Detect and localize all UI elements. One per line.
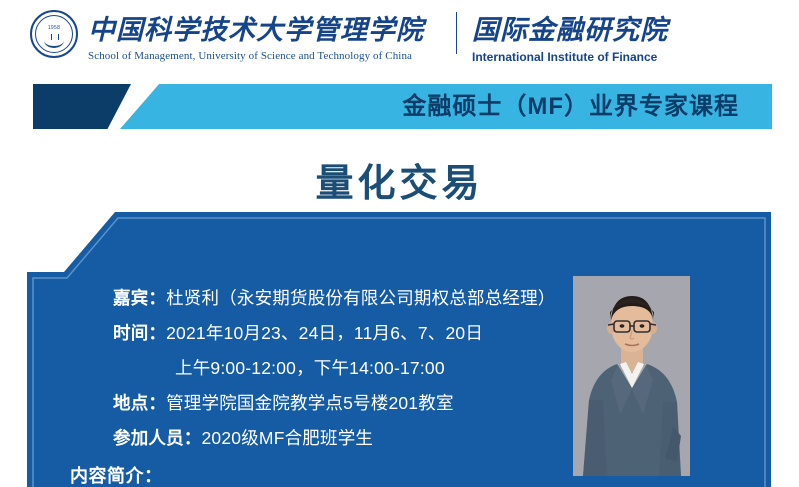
ustc-seal-logo-icon: 1958: [30, 10, 82, 62]
page-title: 量化交易: [0, 152, 799, 207]
detail-value-audience: 2020级MF合肥班学生: [202, 428, 374, 448]
detail-value-location: 管理学院国金院教学点5号楼201教室: [166, 393, 454, 413]
seal-year-label: 1958: [41, 25, 67, 31]
detail-value-time: 上午9:00-12:00，下午14:00-17:00: [175, 358, 445, 378]
seal-emblem-shape: [44, 33, 64, 48]
speaker-portrait-photo: [573, 276, 690, 476]
brand-institute: 国际金融研究院 International Institute of Finan…: [472, 8, 668, 64]
institute-name-en: International Institute of Finance: [472, 50, 668, 64]
banner-light-shape: 金融硕士（MF）业界专家课程: [120, 84, 772, 129]
detail-row-location: 地点：管理学院国金院教学点5号楼201教室: [113, 386, 583, 421]
detail-label-location: 地点：: [113, 393, 166, 413]
detail-label-audience: 参加人员：: [113, 428, 202, 448]
intro-section-label: 内容简介：: [70, 462, 163, 487]
poster-header: 1958 中国科学技术大学管理学院 School of Management, …: [0, 0, 799, 72]
banner-label: 金融硕士（MF）业界专家课程: [402, 84, 739, 129]
header-divider: [456, 12, 457, 54]
brand-school: 中国科学技术大学管理学院 School of Management, Unive…: [88, 8, 424, 62]
detail-label-guest: 嘉宾：: [113, 288, 166, 308]
detail-row-time: 上午9:00-12:00，下午14:00-17:00: [113, 351, 583, 386]
institute-name-cn: 国际金融研究院: [472, 8, 668, 47]
detail-value-guest: 杜贤利（永安期货股份有限公司期权总部总经理）: [166, 288, 555, 308]
poster-canvas: 1958 中国科学技术大学管理学院 School of Management, …: [0, 0, 799, 487]
course-series-banner: 金融硕士（MF）业界专家课程: [0, 84, 799, 129]
details-text-block: 嘉宾：杜贤利（永安期货股份有限公司期权总部总经理） 时间：2021年10月23、…: [113, 281, 583, 456]
school-name-cn: 中国科学技术大学管理学院: [88, 8, 424, 47]
detail-row-audience: 参加人员：2020级MF合肥班学生: [113, 421, 583, 456]
detail-row-date: 时间：2021年10月23、24日，11月6、7、20日: [113, 316, 583, 351]
detail-value-date: 2021年10月23、24日，11月6、7、20日: [166, 323, 483, 343]
detail-label-date: 时间：: [113, 323, 166, 343]
school-name-en: School of Management, University of Scie…: [88, 50, 424, 62]
detail-row-guest: 嘉宾：杜贤利（永安期货股份有限公司期权总部总经理）: [113, 281, 583, 316]
banner-navy-shape: [33, 84, 131, 129]
